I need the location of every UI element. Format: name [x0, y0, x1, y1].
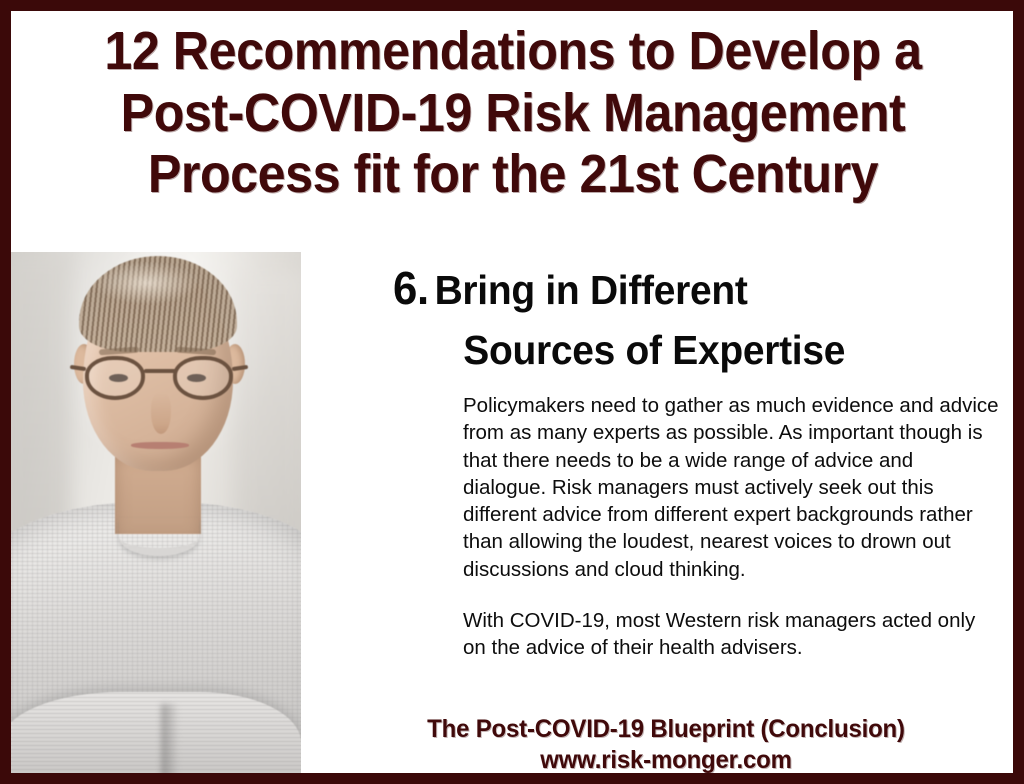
recommendation-number: 6.: [393, 262, 429, 314]
poster-card: 12 Recommendations to Develop a Post-COV…: [0, 0, 1024, 784]
body-copy: Policymakers need to gather as much evid…: [463, 392, 999, 661]
folded-arms: [11, 692, 301, 784]
glasses-temple-left: [70, 365, 86, 371]
footer-website[interactable]: www.risk-monger.com: [335, 745, 997, 776]
arm-shadow: [161, 704, 179, 784]
sweater-collar: [119, 518, 199, 556]
background-blur-left: [11, 252, 71, 552]
footer: The Post-COVID-19 Blueprint (Conclusion)…: [335, 714, 997, 775]
recommendation-heading: 6.Bring in Different Sources of Expertis…: [393, 256, 971, 380]
glasses-icon: [85, 356, 233, 402]
footer-series-title: The Post-COVID-19 Blueprint (Conclusion): [335, 714, 997, 745]
title-line-2: Post-COVID-19 Risk Management: [58, 83, 968, 145]
glasses-lens-right: [173, 356, 233, 400]
photo-background: [11, 252, 301, 784]
glasses-lens-left: [85, 356, 145, 400]
glasses-bridge: [144, 369, 176, 373]
portrait-photo: [11, 252, 301, 784]
title-line-1: 12 Recommendations to Develop a: [58, 21, 968, 83]
recommendation-heading-line1: Bring in Different: [435, 267, 748, 313]
mouth: [131, 442, 189, 449]
title-line-3: Process fit for the 21st Century: [58, 144, 968, 206]
body-paragraph-2: With COVID-19, most Western risk manager…: [463, 607, 999, 662]
body-paragraph-1: Policymakers need to gather as much evid…: [463, 392, 999, 583]
recommendation-heading-line2: Sources of Expertise: [463, 321, 970, 379]
page-title: 12 Recommendations to Develop a Post-COV…: [58, 21, 968, 206]
